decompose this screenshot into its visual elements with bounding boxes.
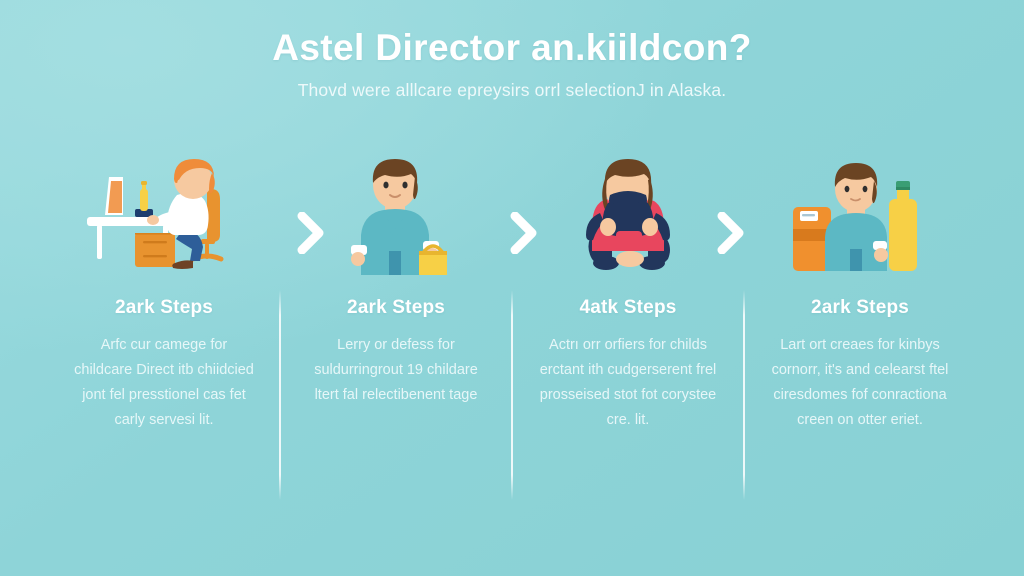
- step-title: 2ark Steps: [292, 297, 500, 319]
- step-column-1: 2ark Steps Arfc cur camege for childcare…: [48, 150, 280, 433]
- step-column-4: 2ark Steps Lart ort creaes for kinbys co…: [744, 150, 976, 433]
- step-title: 2ark Steps: [756, 297, 964, 319]
- illustration-person-with-orange-container-and-yellow-bottle: [756, 150, 964, 275]
- illustration-seated-child-hugging-bundle: [524, 150, 732, 275]
- step-body: Actrı orr orfiers for childs erctant ith…: [535, 333, 721, 433]
- page-subtitle: Thovd were alllcare epreysirs orrl selec…: [0, 80, 1024, 101]
- step-title: 2ark Steps: [60, 297, 268, 319]
- illustration-person-at-desk-with-computer-and-drawers: [60, 150, 268, 275]
- step-column-2: 2ark Steps Lerry or defess for suldurrin…: [280, 150, 512, 408]
- infographic-page: { "header": { "title": "Astel Director a…: [0, 0, 1024, 576]
- steps-row: 2ark Steps Arfc cur camege for childcare…: [48, 150, 976, 433]
- page-title: Astel Director an.kiildcon?: [0, 27, 1024, 68]
- illustration-person-in-teal-sweater-holding-yellow-bag: [292, 150, 500, 275]
- step-body: Lerry or defess for suldurringrout 19 ch…: [303, 333, 489, 408]
- step-body: Lart ort creaes for kinbys cornorr, it's…: [767, 333, 953, 433]
- step-title: 4atk Steps: [524, 297, 732, 319]
- step-body: Arfc cur camege for childcare Direct itb…: [71, 333, 257, 433]
- step-column-3: 4atk Steps Actrı orr orfiers for childs …: [512, 150, 744, 433]
- header: Astel Director an.kiildcon? Thovd were a…: [0, 0, 1024, 101]
